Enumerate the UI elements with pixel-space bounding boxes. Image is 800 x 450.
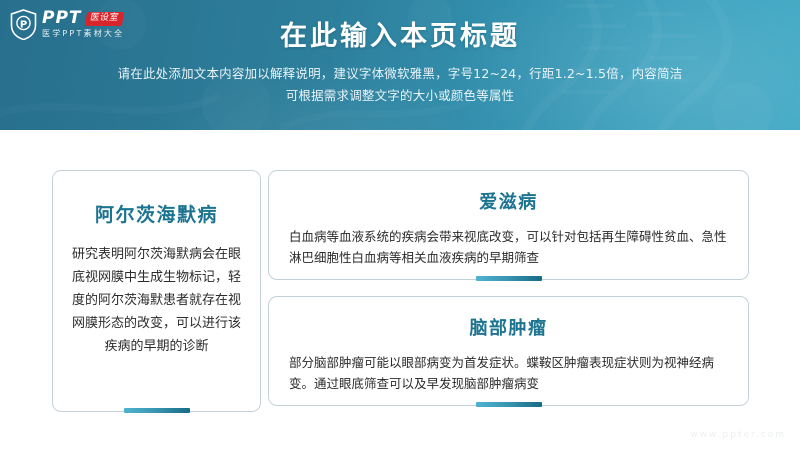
card-brain-tumor-title: 脑部肿瘤 [269, 314, 748, 340]
card-aids-body: 白血病等血液系统的疾病会带来视底改变，可以针对包括再生障碍性贫血、急性淋巴细胞性… [289, 226, 728, 268]
card-brain-tumor-body: 部分脑部肿瘤可能以眼部病变为首发症状。蝶鞍区肿瘤表现症状则为视神经病变。通过眼底… [289, 352, 728, 394]
card-alzheimer-body: 研究表明阿尔茨海默病会在眼底视网膜中生成生物标记，轻度的阿尔茨海默患者就存在视网… [70, 243, 243, 358]
card-brain-tumor-accent-bar [476, 402, 542, 407]
card-alzheimer-title: 阿尔茨海默病 [53, 200, 260, 227]
subtitle-line-2: 可根据需求调整文字的大小或颜色等属性 [0, 85, 800, 107]
card-aids-accent-bar [476, 276, 542, 281]
slide: P PPT 医设室 医学PPT素材大全 在此输入本页标题 请在此处添加文本内容加… [0, 0, 800, 450]
watermark: www.ppter.com [690, 430, 786, 440]
card-alzheimer-accent-bar [124, 408, 190, 413]
card-aids-title: 爱滋病 [269, 188, 748, 214]
subtitle-line-1: 请在此处添加文本内容加以解释说明，建议字体微软雅黑，字号12~24，行距1.2~… [0, 63, 800, 85]
page-title: 在此输入本页标题 [0, 14, 800, 53]
card-aids[interactable]: 爱滋病 白血病等血液系统的疾病会带来视底改变，可以针对包括再生障碍性贫血、急性淋… [268, 170, 749, 280]
page-subtitle: 请在此处添加文本内容加以解释说明，建议字体微软雅黑，字号12~24，行距1.2~… [0, 63, 800, 107]
header-banner: P PPT 医设室 医学PPT素材大全 在此输入本页标题 请在此处添加文本内容加… [0, 0, 800, 130]
card-alzheimer[interactable]: 阿尔茨海默病 研究表明阿尔茨海默病会在眼底视网膜中生成生物标记，轻度的阿尔茨海默… [52, 170, 261, 412]
card-brain-tumor[interactable]: 脑部肿瘤 部分脑部肿瘤可能以眼部病变为首发症状。蝶鞍区肿瘤表现症状则为视神经病变… [268, 296, 749, 406]
